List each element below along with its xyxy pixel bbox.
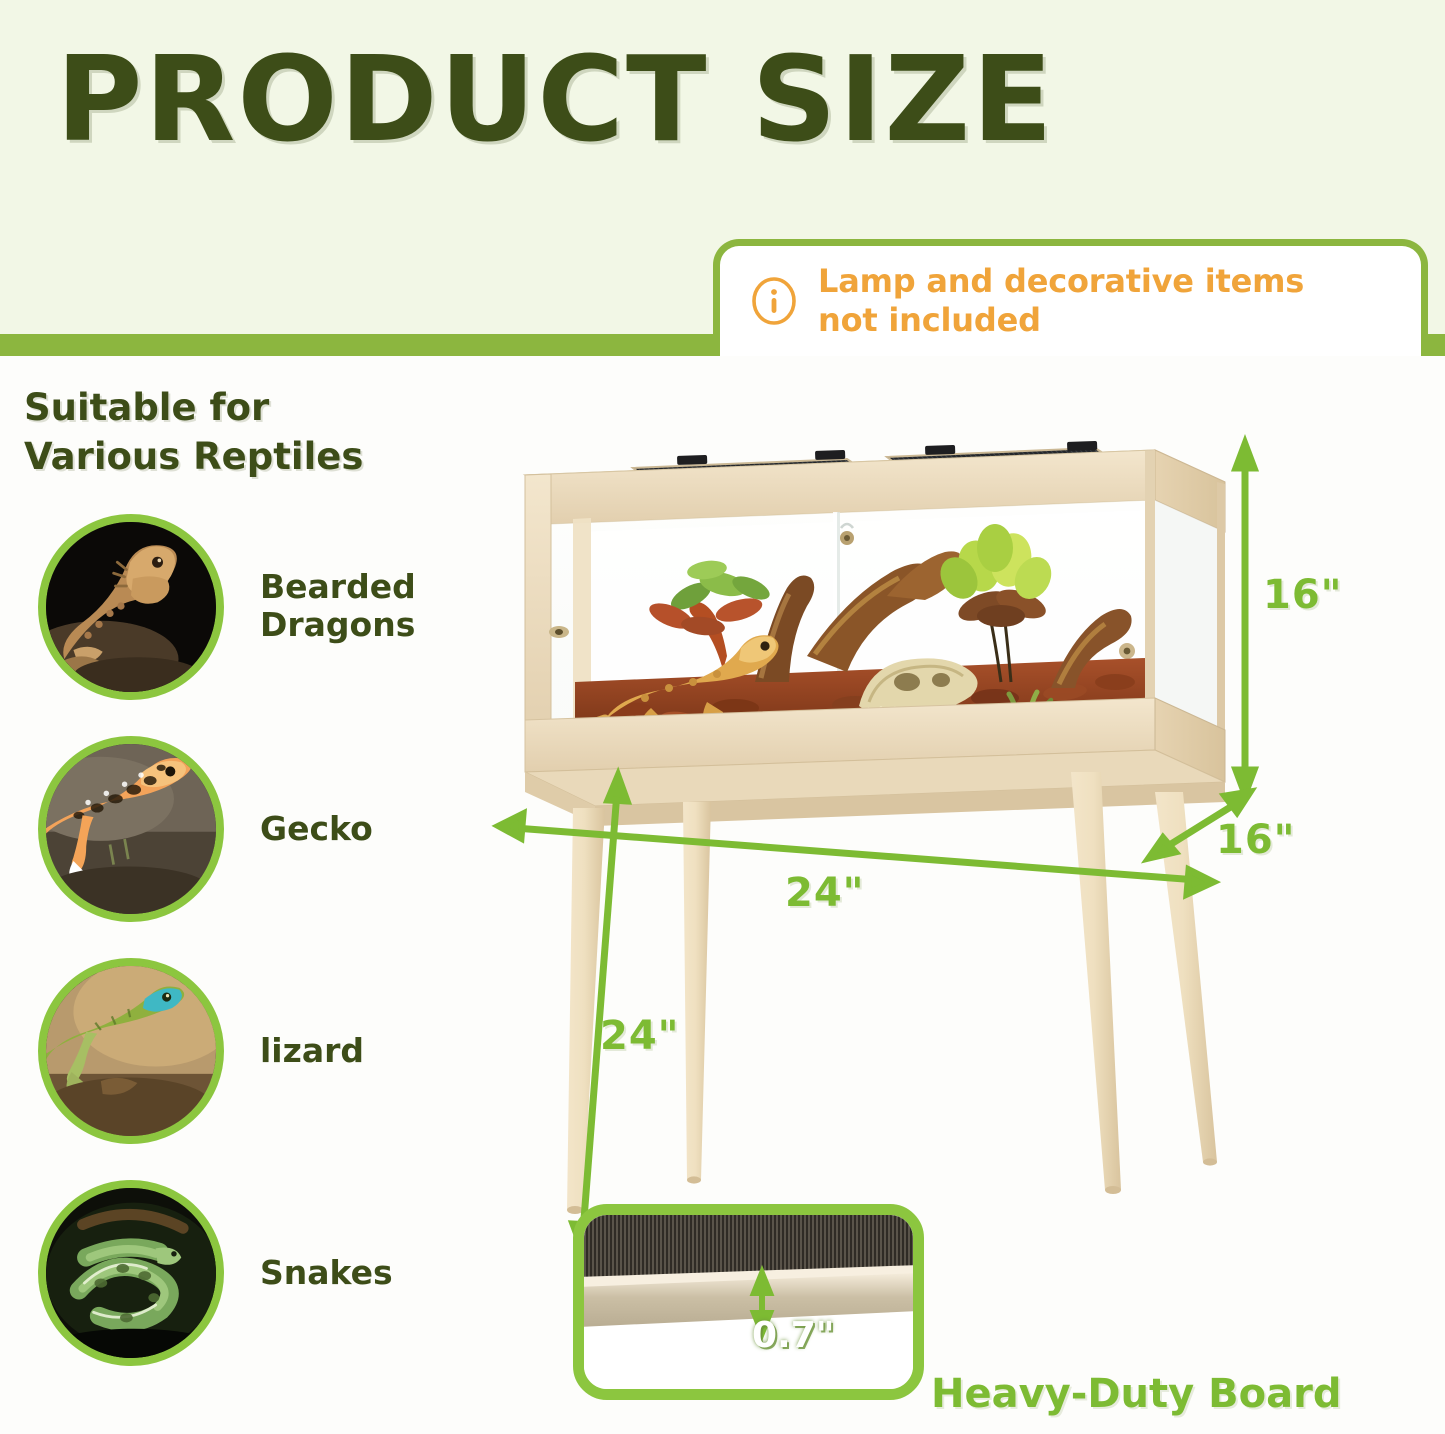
page-title: PRODUCT SIZE [56, 40, 1055, 158]
board-caption: Heavy-Duty Board [931, 1372, 1341, 1416]
lizard-photo [38, 958, 224, 1144]
reptile-label-line-1: Bearded [260, 568, 470, 606]
dimension-label-stand-height: 24" [600, 1016, 680, 1056]
notice-box: Lamp and decorative items not included [713, 239, 1428, 356]
reptile-label-lizard: lizard [260, 1032, 470, 1070]
dimension-label-width: 24" [785, 873, 865, 913]
reptile-item-snakes: Snakes [38, 1180, 458, 1370]
product-illustration [455, 420, 1265, 1250]
dimension-label-height: 16" [1263, 575, 1343, 615]
gecko-photo [38, 736, 224, 922]
heavy-duty-board-callout [573, 1204, 924, 1400]
reptile-label-snakes: Snakes [260, 1254, 470, 1292]
reptile-item-gecko: Gecko [38, 736, 458, 926]
notice-line-1: Lamp and decorative items [818, 262, 1304, 301]
notice-text: Lamp and decorative items not included [818, 262, 1304, 340]
reptiles-heading-line-1: Suitable for [24, 383, 454, 432]
info-circle-icon [750, 277, 798, 325]
reptile-label-bearded-dragons: Bearded Dragons [260, 568, 470, 644]
reptiles-heading: Suitable for Various Reptiles [24, 383, 454, 481]
bearded-dragon-photo [38, 514, 224, 700]
infographic-canvas: PRODUCT SIZE Lamp and decorative items n… [0, 0, 1445, 1434]
left-post [525, 474, 551, 748]
reptile-item-lizard: lizard [38, 958, 458, 1148]
notice-line-2: not included [818, 301, 1304, 340]
board-thickness-label: 0.7" [752, 1318, 835, 1354]
reptile-label-line-2: Dragons [260, 606, 470, 644]
reptile-label-line-1: lizard [260, 1032, 470, 1070]
reptile-label-gecko: Gecko [260, 810, 470, 848]
reptile-item-bearded-dragons: Bearded Dragons [38, 514, 458, 704]
reptile-label-line-1: Gecko [260, 810, 470, 848]
dimension-label-depth: 16" [1216, 820, 1296, 860]
reptiles-heading-line-2: Various Reptiles [24, 432, 454, 481]
snake-photo [38, 1180, 224, 1366]
reptile-label-line-1: Snakes [260, 1254, 470, 1292]
